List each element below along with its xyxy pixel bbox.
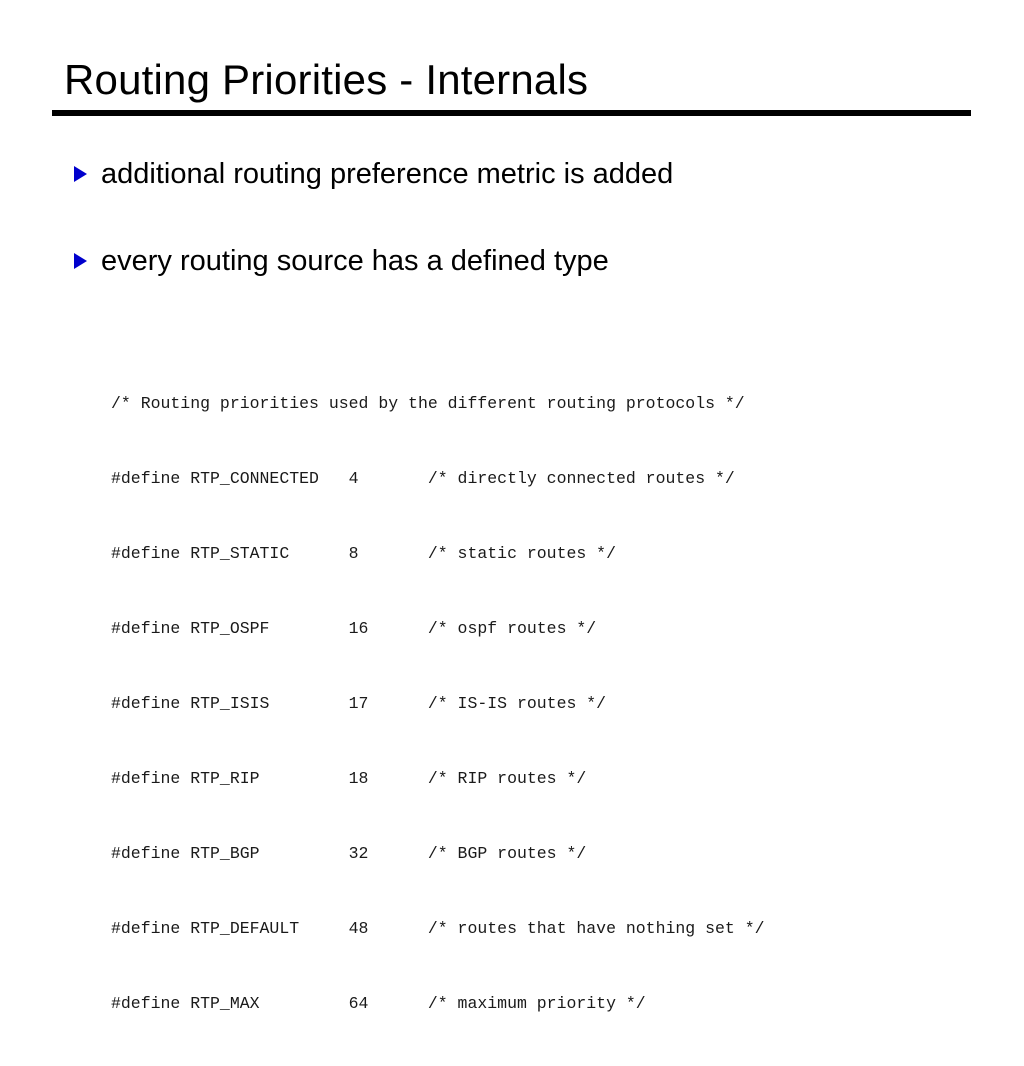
bullet-list: additional routing preference metric is … <box>74 154 974 328</box>
code-line: #define RTP_OSPF 16 /* ospf routes */ <box>111 616 765 641</box>
triangle-right-icon <box>74 166 88 182</box>
code-line: #define RTP_ISIS 17 /* IS-IS routes */ <box>111 691 765 716</box>
code-line: #define RTP_CONNECTED 4 /* directly conn… <box>111 466 765 491</box>
code-line: #define RTP_DEFAULT 48 /* routes that ha… <box>111 916 765 941</box>
bullet-item-label: additional routing preference metric is … <box>101 154 673 194</box>
code-line: /* Routing priorities used by the differ… <box>111 391 765 416</box>
bullet-item-label: every routing source has a defined type <box>101 241 609 281</box>
code-line: #define RTP_RIP 18 /* RIP routes */ <box>111 766 765 791</box>
page-title: Routing Priorities - Internals <box>64 55 588 105</box>
list-item: additional routing preference metric is … <box>74 154 974 194</box>
list-item: every routing source has a defined type <box>74 241 974 281</box>
title-divider <box>52 110 971 116</box>
code-block: /* Routing priorities used by the differ… <box>111 341 765 1066</box>
triangle-right-icon <box>74 253 88 269</box>
code-line: #define RTP_MAX 64 /* maximum priority *… <box>111 991 765 1016</box>
code-line: #define RTP_BGP 32 /* BGP routes */ <box>111 841 765 866</box>
code-line: #define RTP_STATIC 8 /* static routes */ <box>111 541 765 566</box>
slide: Routing Priorities - Internals additiona… <box>0 0 1024 768</box>
